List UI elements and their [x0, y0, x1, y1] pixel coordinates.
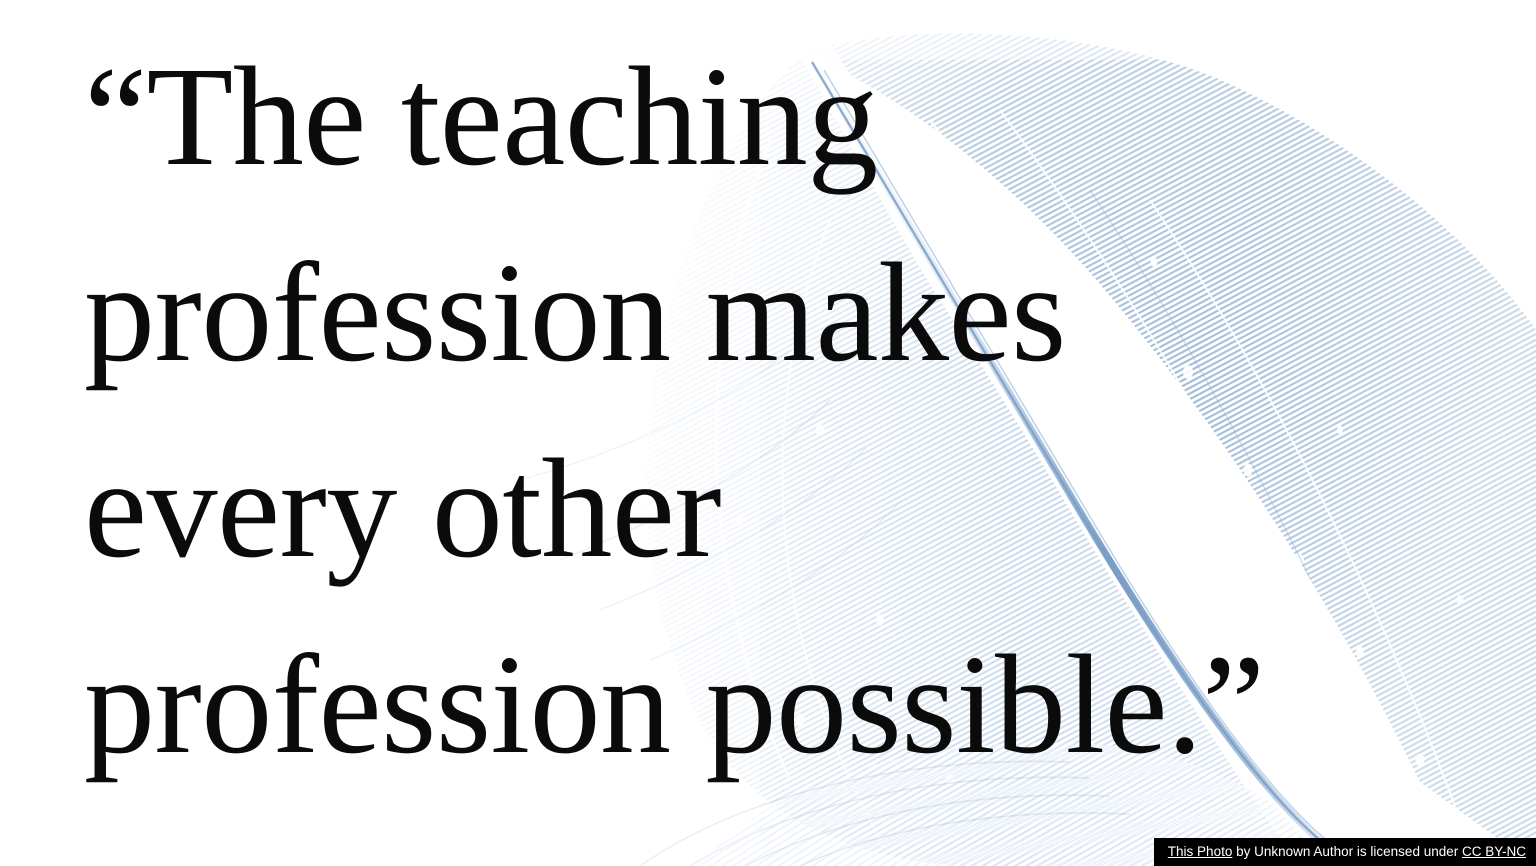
photo-attribution-bar: This Photo by Unknown Author is licensed…	[1154, 838, 1536, 866]
this-photo-link[interactable]: This Photo	[1168, 845, 1233, 859]
quote-text-block: “The teaching profession makes every oth…	[84, 18, 1344, 802]
quote-line-1: “The teaching	[84, 18, 1344, 214]
cc-license-link[interactable]: CC BY-NC	[1462, 845, 1526, 859]
quote-line-2: profession makes	[84, 214, 1344, 410]
quote-line-3: every other	[84, 410, 1344, 606]
attribution-middle-text: by Unknown Author is licensed under	[1232, 845, 1462, 859]
slide-canvas: “The teaching profession makes every oth…	[0, 0, 1536, 866]
quote-line-4: profession possible.”	[84, 606, 1344, 802]
